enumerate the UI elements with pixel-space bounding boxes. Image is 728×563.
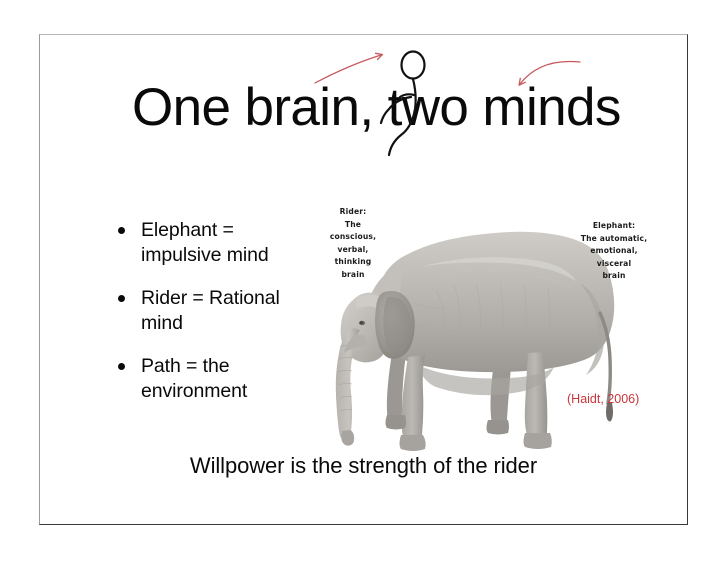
slide-canvas: One brain, two minds — [39, 34, 688, 525]
bullet-dot-icon — [118, 363, 125, 370]
page-title: One brain, two minds — [132, 80, 621, 136]
bullet-label: Rider = Rational mind — [141, 286, 318, 336]
bullet-label: Path = the environment — [141, 354, 318, 404]
citation-label: (Haidt, 2006) — [567, 392, 639, 406]
annotation-rider: Rider: The conscious, verbal, thinking b… — [308, 206, 398, 281]
bullet-dot-icon — [118, 295, 125, 302]
bullet-label: Elephant = impulsive mind — [141, 218, 318, 268]
annotation-elephant: Elephant: The automatic, emotional, visc… — [540, 220, 688, 283]
bullet-list: Elephant = impulsive mind Rider = Ration… — [118, 218, 318, 422]
slide-caption: Willpower is the strength of the rider — [40, 453, 687, 479]
list-item: Rider = Rational mind — [118, 286, 318, 336]
list-item: Elephant = impulsive mind — [118, 218, 318, 268]
bullet-dot-icon — [118, 227, 125, 234]
list-item: Path = the environment — [118, 354, 318, 404]
